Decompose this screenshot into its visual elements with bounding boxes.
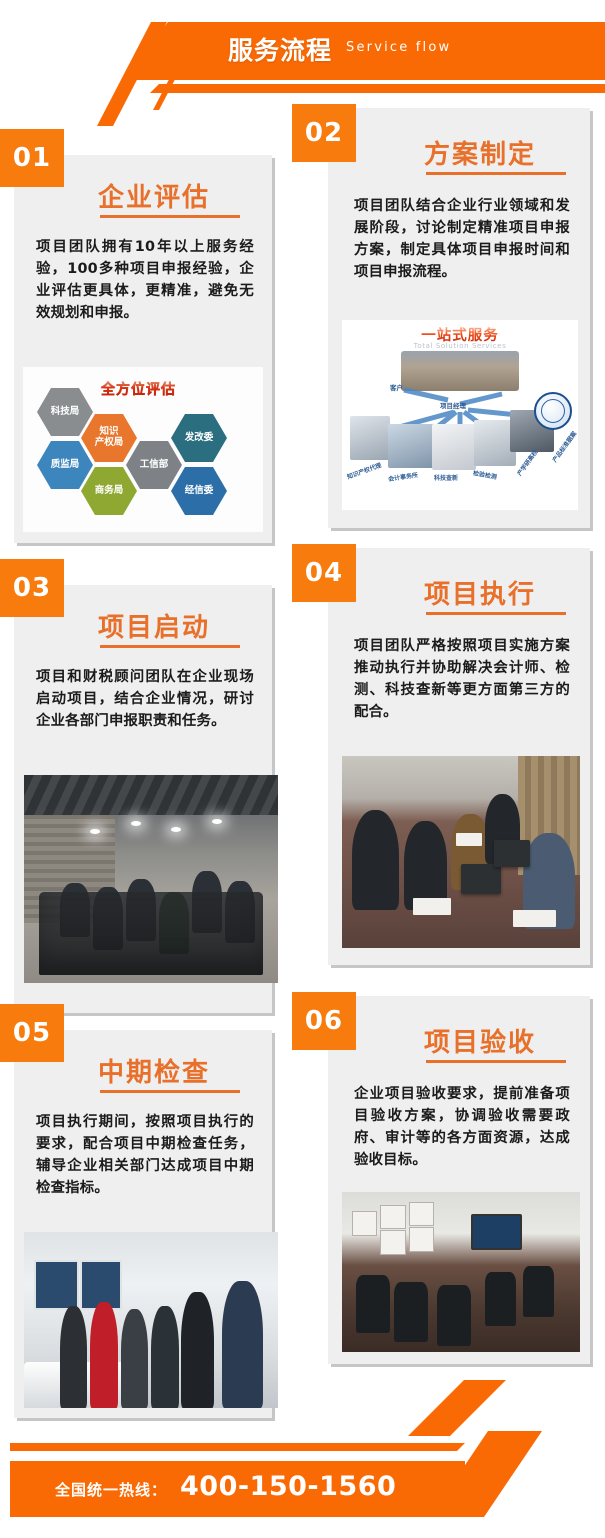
card-06-title-rule: [426, 1060, 566, 1063]
header-band-underline: [150, 84, 605, 93]
hexagon-node-jingxin: 经信委: [171, 466, 227, 516]
hexagon-node-keji: 科技局: [37, 387, 93, 437]
hexagon-node-shangwu: 商务局: [81, 466, 137, 516]
footer-slash-small-icon: [408, 1380, 506, 1436]
card-02-body: 项目团队结合企业行业领域和发展阶段，讨论制定精准项目申报方案，制定具体项目申报时…: [354, 196, 570, 284]
card-05-badge: 05: [0, 1004, 64, 1062]
card-06-title: 项目验收: [424, 1022, 536, 1059]
card-01-badge: 01: [0, 129, 64, 187]
page-subtitle: Service flow: [346, 40, 451, 55]
card-03: 项目启动 项目和财税顾问团队在企业现场启动项目，结合企业情况，研讨企业各部门申报…: [14, 585, 272, 1013]
oss-thumb-ip: [350, 416, 390, 460]
card-06: 项目验收 企业项目验收要求，提前准备项目验收方案，协调验收需要政府、审计等的各方…: [328, 996, 590, 1364]
card-02-title-rule: [426, 172, 566, 175]
oss-node-manager: 项目经理: [440, 400, 466, 410]
one-stop-service-diagram: 一站式服务 Total Solution Services 客户 项目经理: [342, 320, 578, 510]
card-06-badge: 06: [292, 992, 356, 1050]
card-04-badge: 04: [292, 544, 356, 602]
meeting-room-photo: [24, 775, 278, 983]
card-05-title: 中期检查: [98, 1052, 210, 1089]
card-01-body: 项目团队拥有10年以上服务经验，100多种项目申报经验，企业评估更具体，更精准，…: [36, 237, 254, 325]
oss-label-search: 科技查新: [434, 473, 458, 482]
card-04-body: 项目团队严格按照项目实施方案推动执行并协助解决会计师、检测、科技查新等更方面第三…: [354, 636, 570, 724]
hexagon-node-zhijian: 质监局: [37, 440, 93, 490]
hotline-number[interactable]: 400-150-1560: [180, 1471, 396, 1502]
card-01: 企业评估 项目团队拥有10年以上服务经验，100多种项目申报经验，企业评估更具体…: [14, 155, 272, 543]
footer-underline: [10, 1443, 465, 1451]
oss-thumb-accounting: [388, 424, 434, 468]
card-02: 方案制定 项目团队结合企业行业领域和发展阶段，讨论制定精准项目申报方案，制定具体…: [328, 108, 590, 528]
card-04: 项目执行 项目团队严格按照项目实施方案推动执行并协助解决会计师、检测、科技查新等…: [328, 548, 590, 965]
hexagon-chart-title: 全方位评估: [101, 379, 176, 399]
card-05-body: 项目执行期间，按照项目执行的要求，配合项目中期检查任务，辅导企业相关部门达成项目…: [36, 1112, 254, 1200]
card-03-title-rule: [100, 645, 240, 648]
card-01-title: 企业评估: [98, 177, 210, 214]
card-03-badge: 03: [0, 559, 64, 617]
oss-thumb-search: [432, 424, 476, 470]
card-02-title: 方案制定: [424, 134, 536, 171]
hexagon-chart: 全方位评估 科技局 知识产权局 质监局 商务局 工信部 发改委 经信委: [23, 367, 263, 532]
card-03-title: 项目启动: [98, 607, 210, 644]
card-02-badge: 02: [292, 104, 356, 162]
card-06-body: 企业项目验收要求，提前准备项目验收方案，协调验收需要政府、审计等的各方面资源，达…: [354, 1084, 570, 1172]
hexagon-node-gongxin: 工信部: [126, 440, 182, 490]
page-title: 服务流程: [228, 31, 332, 67]
card-05-title-rule: [100, 1090, 240, 1093]
oss-standard-badge-icon: [534, 392, 572, 430]
card-04-title: 项目执行: [424, 574, 536, 611]
conference-room-photo: [342, 1192, 580, 1352]
oss-node-customer: 客户: [390, 382, 403, 392]
card-03-body: 项目和财税顾问团队在企业现场启动项目，结合企业情况，研讨企业各部门申报职责和任务…: [36, 667, 254, 733]
card-01-title-rule: [100, 215, 240, 218]
hotline-label: 全国统一热线：: [55, 1479, 167, 1500]
desk-work-photo: [342, 756, 580, 948]
lobby-visit-photo: [24, 1232, 278, 1408]
hexagon-node-zhishi: 知识产权局: [81, 413, 137, 463]
card-05: 中期检查 项目执行期间，按照项目执行的要求，配合项目中期检查任务，辅导企业相关部…: [14, 1030, 272, 1418]
card-04-title-rule: [426, 612, 566, 615]
infographic-page: 服务流程 Service flow 企业评估 项目团队拥有10年以上服务经验，1…: [0, 0, 605, 1538]
hexagon-node-fagai: 发改委: [171, 413, 227, 463]
